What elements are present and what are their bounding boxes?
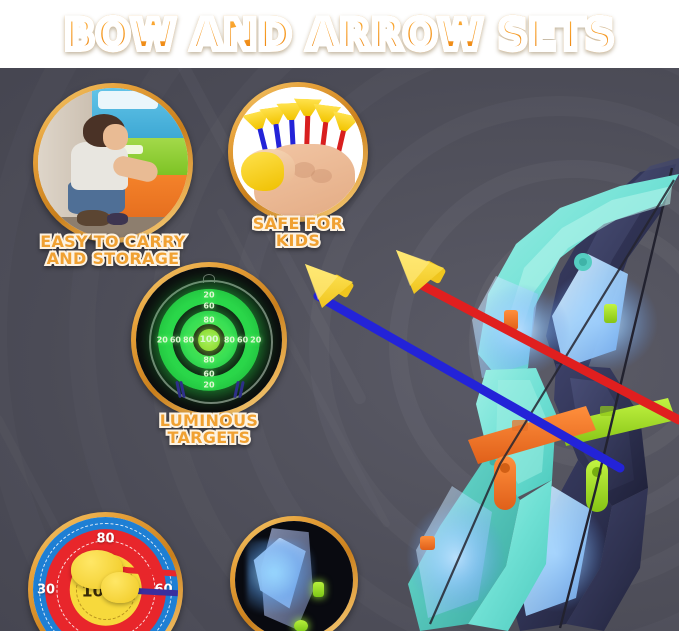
teal-led-glow-lower xyxy=(406,502,506,614)
dartboard-score-left: 30 xyxy=(37,582,55,597)
feature-image-suction-target: 80 80 30 60 100 xyxy=(33,517,178,631)
teal-led-blade-upper xyxy=(472,276,538,378)
teal-limb-joint xyxy=(574,253,592,271)
feature-image-led-lights xyxy=(235,521,353,631)
arrow-blue-suction-cup xyxy=(305,264,353,308)
target-score: 60 xyxy=(203,369,214,378)
target-score: 60 xyxy=(170,336,181,345)
navy-riser-highlight xyxy=(570,378,634,492)
dartboard-score-top: 80 xyxy=(96,531,114,546)
feature-ring-border xyxy=(33,83,193,243)
teal-bowstring xyxy=(430,180,674,624)
feature-ring-border xyxy=(228,82,368,222)
navy-led-button-upper xyxy=(604,304,617,323)
teal-grip-detail xyxy=(512,420,528,431)
teal-led-button-upper xyxy=(504,310,518,330)
target-score: 20 xyxy=(203,381,214,390)
target-score: 80 xyxy=(224,336,235,345)
arrow-blue-cup-highlight xyxy=(305,264,338,300)
navy-trigger-dot xyxy=(592,467,602,477)
arrow-red-shaft xyxy=(416,282,679,420)
teal-lower-joint-inner xyxy=(490,459,497,466)
teal-lower-joint xyxy=(485,454,501,470)
feature-label-safe-for-kids: SAFE FOR KIDS xyxy=(228,215,368,249)
navy-led-blade-lower xyxy=(514,486,592,616)
product-bow-navy xyxy=(504,158,679,631)
arrow-red-suction-cup xyxy=(396,250,444,294)
feature-ring-border xyxy=(230,516,358,631)
arrow-red-cup-highlight xyxy=(396,250,430,286)
navy-trigger-pad xyxy=(586,460,608,512)
feature-label-luminous-targets: LUMINOUS TARGETS xyxy=(131,412,287,446)
navy-riser xyxy=(554,364,648,506)
target-score: 80 xyxy=(203,315,214,324)
navy-lower-limb xyxy=(508,460,612,631)
target-score: 20 xyxy=(203,290,214,299)
title-bar: BOW AND ARROW SETS BOW AND ARROW SETS xyxy=(0,0,679,68)
target-score: 60 xyxy=(237,336,248,345)
navy-bowstring xyxy=(560,168,672,628)
feature-image-safe-for-kids xyxy=(233,87,363,217)
page-title: BOW AND ARROW SETS xyxy=(64,10,615,59)
navy-led-glow-upper xyxy=(542,270,658,374)
teal-riser-highlight xyxy=(496,380,546,484)
navy-upper-highlight xyxy=(576,158,679,312)
target-score-center: 100 xyxy=(200,335,219,345)
target-score: 60 xyxy=(203,302,214,311)
navy-grip-detail xyxy=(600,406,614,416)
arrow-blue-collar xyxy=(327,274,354,299)
ripple-arc xyxy=(469,218,679,468)
led-button-lower xyxy=(294,620,308,631)
navy-lower-limb-b xyxy=(566,488,648,631)
teal-upper-highlight xyxy=(508,186,672,336)
target-score: 80 xyxy=(183,336,194,345)
teal-trigger-dot xyxy=(500,463,510,473)
feature-easy-to-carry[interactable]: EASY TO CARRY AND STORAGE xyxy=(33,83,193,243)
product-bow-teal xyxy=(406,174,679,631)
target-score: 80 xyxy=(203,356,214,365)
teal-limb-joint-inner xyxy=(579,258,587,266)
teal-lower-limb-b xyxy=(468,480,552,631)
teal-riser xyxy=(476,368,556,498)
teal-trigger-pad xyxy=(494,456,516,510)
feature-ring-border: 80 80 30 60 100 xyxy=(28,512,183,631)
feature-image-easy-to-carry xyxy=(38,88,188,238)
navy-led-glow-lower xyxy=(504,496,608,612)
target-score: 20 xyxy=(157,336,168,345)
feature-panel: EASY TO CARRY AND STORAGE xyxy=(0,68,679,631)
feature-led-lights[interactable]: LED LIGHTS xyxy=(230,516,358,631)
arrow-red-collar xyxy=(420,260,447,284)
feature-image-luminous-target: 20 60 80 100 80 60 20 20 60 80 80 60 20 xyxy=(136,267,282,413)
teal-upper-limb xyxy=(478,174,679,378)
target-score: 20 xyxy=(250,336,261,345)
arrow-blue xyxy=(305,264,620,468)
navy-led-blade-upper xyxy=(552,254,628,368)
teal-led-button-lower xyxy=(420,536,435,550)
navy-grip-band xyxy=(560,398,676,446)
teal-grip-band xyxy=(468,406,596,464)
feature-luminous-targets[interactable]: 20 60 80 100 80 60 20 20 60 80 80 60 20 xyxy=(131,262,287,418)
arrow-blue-shaft xyxy=(318,296,620,468)
ripple-arc xyxy=(389,160,679,530)
feature-ring-border: 20 60 80 100 80 60 20 20 60 80 80 60 20 xyxy=(131,262,287,418)
navy-led-button-lower xyxy=(516,534,531,548)
feature-suction-cups[interactable]: 80 80 30 60 100 SUPER BIG & STRONG SUCTI… xyxy=(28,512,183,631)
teal-lower-limb xyxy=(408,454,520,631)
teal-led-glow-upper xyxy=(470,284,570,376)
led-button-upper xyxy=(313,582,324,597)
teal-led-blade-lower xyxy=(416,486,492,618)
feature-safe-for-kids[interactable]: SAFE FOR KIDS xyxy=(228,82,368,222)
arrow-red xyxy=(396,250,679,420)
navy-upper-limb xyxy=(546,164,676,368)
dartboard-arrow-blue-cup xyxy=(101,572,139,602)
